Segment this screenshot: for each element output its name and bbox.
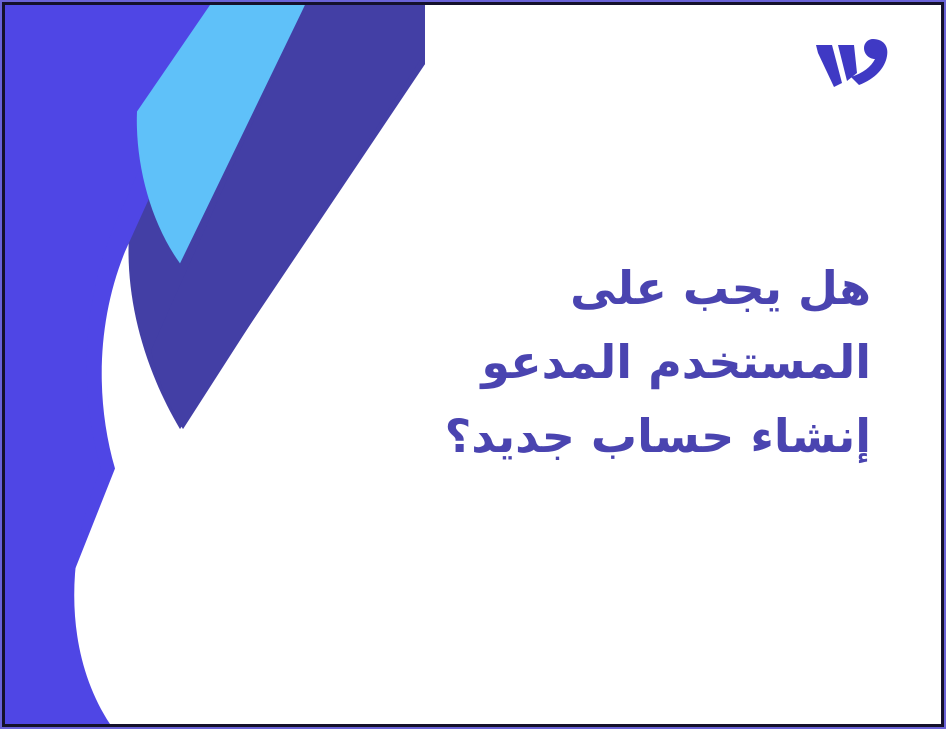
ribbon-base-blue-lower (5, 5, 210, 724)
headline-line-3: إنشاء حساب جديد؟ (411, 399, 871, 473)
waffer-w-logo (813, 37, 889, 95)
headline-line-2: المستخدم المدعو (411, 325, 871, 399)
headline-line-1: هل يجب على (411, 251, 871, 325)
ribbon-dark-band (128, 5, 425, 429)
ribbon-base-blue (5, 5, 237, 695)
logo-stroke-middle (838, 45, 857, 81)
slide-frame: هل يجب على المستخدم المدعو إنشاء حساب جد… (0, 0, 946, 729)
logo-stroke-hook (851, 39, 887, 85)
ribbon-dark-front (151, 5, 425, 429)
ribbon-light-accent (137, 5, 305, 263)
logo-stroke-left (816, 45, 842, 87)
slide-canvas: هل يجب على المستخدم المدعو إنشاء حساب جد… (2, 2, 944, 727)
diagonal-ribbon-graphic (5, 5, 425, 724)
page-title: هل يجب على المستخدم المدعو إنشاء حساب جد… (411, 251, 871, 473)
